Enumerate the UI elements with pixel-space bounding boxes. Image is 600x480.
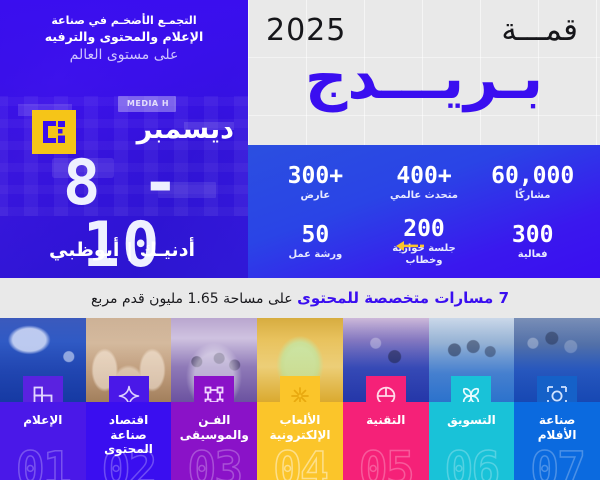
track-photo [429, 318, 515, 402]
track-photo [86, 318, 172, 402]
track-card-technology[interactable]: التقنية 05 [343, 318, 429, 480]
stat-item: 300 فعالية [479, 213, 586, 273]
stat-item: 50 ورشة عمل [262, 213, 369, 273]
content-tracks-banner: 7 مسارات متخصصة للمحتوى على مساحة 1.65 م… [0, 278, 600, 318]
stat-item: 300+ عارض [262, 153, 369, 213]
hero-headline-line1: التجمـع الأضخـم في صناعة [14, 14, 234, 29]
blocks-icon [23, 376, 63, 402]
track-label: الفـنوالموسيقى [171, 413, 257, 442]
track-body: التسويق 06 [429, 402, 515, 480]
banner-strong-text: 7 مسارات متخصصة للمحتوى [297, 289, 509, 307]
hero-headline-line3: على مستوى العالم [14, 46, 234, 65]
track-card-gaming[interactable]: الألعابالإلكترونية 04 [257, 318, 343, 480]
track-number: 01 [0, 446, 86, 480]
event-poster: MEDIA H التجمـع الأضخـم في صناعة الإعلام… [0, 0, 600, 480]
track-label: اقتصادصناعةالمحتوى [86, 413, 172, 457]
burst-icon [280, 376, 320, 402]
stat-label: ورشة عمل [288, 249, 342, 261]
track-body: الإعلام 01 [0, 402, 86, 480]
track-number: 06 [429, 446, 515, 480]
track-label: الإعلام [0, 413, 86, 428]
stat-number: 200 [403, 217, 445, 241]
track-number: 04 [257, 446, 343, 480]
sparkle-icon [109, 376, 149, 402]
stat-number: 300 [512, 223, 554, 247]
track-body: اقتصادصناعةالمحتوى 02 [86, 402, 172, 480]
track-label: صناعةالأفلام [514, 413, 600, 442]
track-cards: صناعةالأفلام 07 التسويق [0, 318, 600, 480]
left-arrow-icon [396, 240, 426, 252]
stat-label: متحدث عالمي [390, 190, 458, 202]
hashtag-icon [194, 376, 234, 402]
pinwheel-icon [451, 376, 491, 402]
track-label: التقنية [343, 413, 429, 428]
hero-month: ديسمبر [104, 116, 234, 143]
stat-number: 300+ [288, 164, 343, 188]
track-photo [343, 318, 429, 402]
stat-item: 60,000 مشاركًا [479, 153, 586, 213]
track-card-marketing[interactable]: التسويق 06 [429, 318, 515, 480]
track-body: الألعابالإلكترونية 04 [257, 402, 343, 480]
camera-lens-icon [537, 376, 577, 402]
track-card-media[interactable]: الإعلام 01 [0, 318, 86, 480]
track-number: 03 [171, 446, 257, 480]
track-number: 07 [514, 446, 600, 480]
stat-item: 400+ متحدث عالمي [371, 153, 478, 213]
stat-label: فعالية [518, 249, 548, 261]
hero-headline-line2: الإعلام والمحتوى والترفيه [14, 29, 234, 45]
banner-rest-text: على مساحة 1.65 مليون قدم مربع [91, 291, 297, 307]
track-card-art-music[interactable]: الفـنوالموسيقى 03 [171, 318, 257, 480]
title-brand: بـريـــدج [268, 48, 580, 107]
track-photo [171, 318, 257, 402]
track-card-content-economy[interactable]: اقتصادصناعةالمحتوى 02 [86, 318, 172, 480]
title-block: قمـــة 2025 بـريـــدج [248, 0, 600, 145]
stat-label: عارض [300, 190, 330, 202]
hero-panel: MEDIA H التجمـع الأضخـم في صناعة الإعلام… [0, 0, 248, 278]
stats-grid: 60,000 مشاركًا 400+ متحدث عالمي 300+ عار… [248, 145, 600, 278]
hero-headline: التجمـع الأضخـم في صناعة الإعلام والمحتو… [14, 14, 234, 65]
track-body: الفـنوالموسيقى 03 [171, 402, 257, 480]
banner-text: 7 مسارات متخصصة للمحتوى على مساحة 1.65 م… [91, 289, 509, 308]
pie-icon [366, 376, 406, 402]
track-photo [0, 318, 86, 402]
stat-number: 60,000 [491, 164, 574, 188]
stat-number: 400+ [396, 164, 451, 188]
stat-number: 50 [302, 223, 330, 247]
stats-panel: 60,000 مشاركًا 400+ متحدث عالمي 300+ عار… [248, 145, 600, 278]
track-number: 05 [343, 446, 429, 480]
top-section: MEDIA H التجمـع الأضخـم في صناعة الإعلام… [0, 0, 600, 278]
track-photo [514, 318, 600, 402]
track-photo [257, 318, 343, 402]
hero-venue: أدنيـك | أبوظبي [6, 240, 238, 262]
track-body: صناعةالأفلام 07 [514, 402, 600, 480]
track-label: الألعابالإلكترونية [257, 413, 343, 442]
track-label: التسويق [429, 413, 515, 428]
stat-label: مشاركًا [515, 190, 550, 202]
track-card-film[interactable]: صناعةالأفلام 07 [514, 318, 600, 480]
track-body: التقنية 05 [343, 402, 429, 480]
